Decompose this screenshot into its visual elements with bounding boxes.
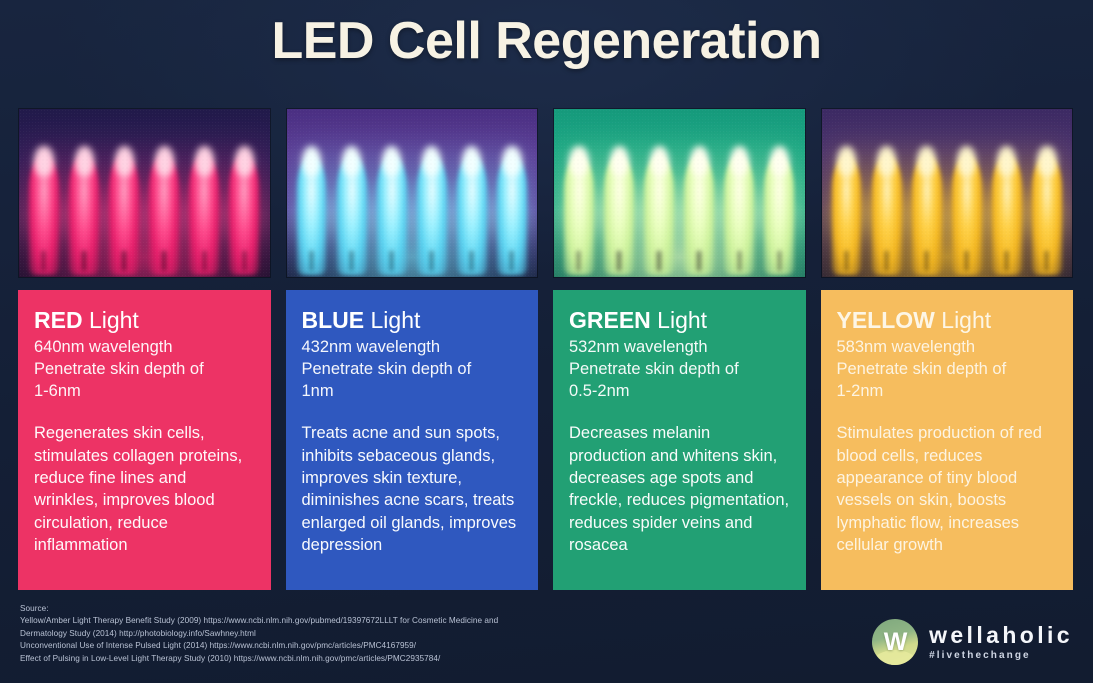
source-label: Source: (20, 603, 720, 615)
yellow-light-card: YELLOW Light 583nm wavelength Penetrate … (821, 290, 1074, 590)
logo-letter: W (872, 619, 918, 665)
card-title-colour: RED (34, 307, 83, 333)
brand-tagline: #livethechange (929, 651, 1073, 661)
card-title-colour: YELLOW (837, 307, 935, 333)
brand-name: wellaholic (929, 624, 1073, 647)
card-specification: 532nm wavelength Penetrate skin depth of… (569, 336, 790, 402)
red-light-card: RED Light 640nm wavelength Penetrate ski… (18, 290, 271, 590)
card-description: Regenerates skin cells, stimulates colla… (34, 422, 255, 557)
photo-grain-texture (19, 109, 270, 277)
card-title-suffix: Light (83, 307, 139, 333)
photo-grain-texture (287, 109, 538, 277)
card-title-suffix: Light (935, 307, 991, 333)
card-title-suffix: Light (364, 307, 420, 333)
card-title: GREEN Light (569, 308, 790, 334)
card-specification: 583nm wavelength Penetrate skin depth of… (837, 336, 1058, 402)
card-title: BLUE Light (302, 308, 523, 334)
brand-text: wellaholic #livethechange (929, 624, 1073, 661)
infographic-canvas: LED Cell Regeneration (0, 0, 1093, 683)
card-title-colour: GREEN (569, 307, 651, 333)
card-description: Treats acne and sun spots, inhibits seba… (302, 422, 523, 557)
card-description: Decreases melanin production and whitens… (569, 422, 790, 557)
yellow-led-panel-photo (821, 108, 1074, 278)
red-led-panel-photo (18, 108, 271, 278)
green-light-card: GREEN Light 532nm wavelength Penetrate s… (553, 290, 806, 590)
source-line: Yellow/Amber Light Therapy Benefit Study… (20, 615, 720, 627)
blue-led-panel-photo (286, 108, 539, 278)
led-photo-row (18, 108, 1073, 278)
card-title-colour: BLUE (302, 307, 365, 333)
photo-grain-texture (822, 109, 1073, 277)
brand-logo: W wellaholic #livethechange (872, 619, 1073, 665)
page-title: LED Cell Regeneration (0, 12, 1093, 70)
green-led-panel-photo (553, 108, 806, 278)
card-title: YELLOW Light (837, 308, 1058, 334)
light-info-card-row: RED Light 640nm wavelength Penetrate ski… (18, 290, 1073, 590)
card-specification: 640nm wavelength Penetrate skin depth of… (34, 336, 255, 402)
card-title-suffix: Light (651, 307, 707, 333)
card-specification: 432nm wavelength Penetrate skin depth of… (302, 336, 523, 402)
source-line: Effect of Pulsing in Low-Level Light The… (20, 653, 720, 665)
card-title: RED Light (34, 308, 255, 334)
photo-grain-texture (554, 109, 805, 277)
source-citations: Source: Yellow/Amber Light Therapy Benef… (20, 603, 720, 665)
source-line: Dermatology Study (2014) http://photobio… (20, 628, 720, 640)
card-description: Stimulates production of red blood cells… (837, 422, 1058, 557)
source-line: Unconventional Use of Intense Pulsed Lig… (20, 640, 720, 652)
blue-light-card: BLUE Light 432nm wavelength Penetrate sk… (286, 290, 539, 590)
wellaholic-logo-icon: W (872, 619, 918, 665)
